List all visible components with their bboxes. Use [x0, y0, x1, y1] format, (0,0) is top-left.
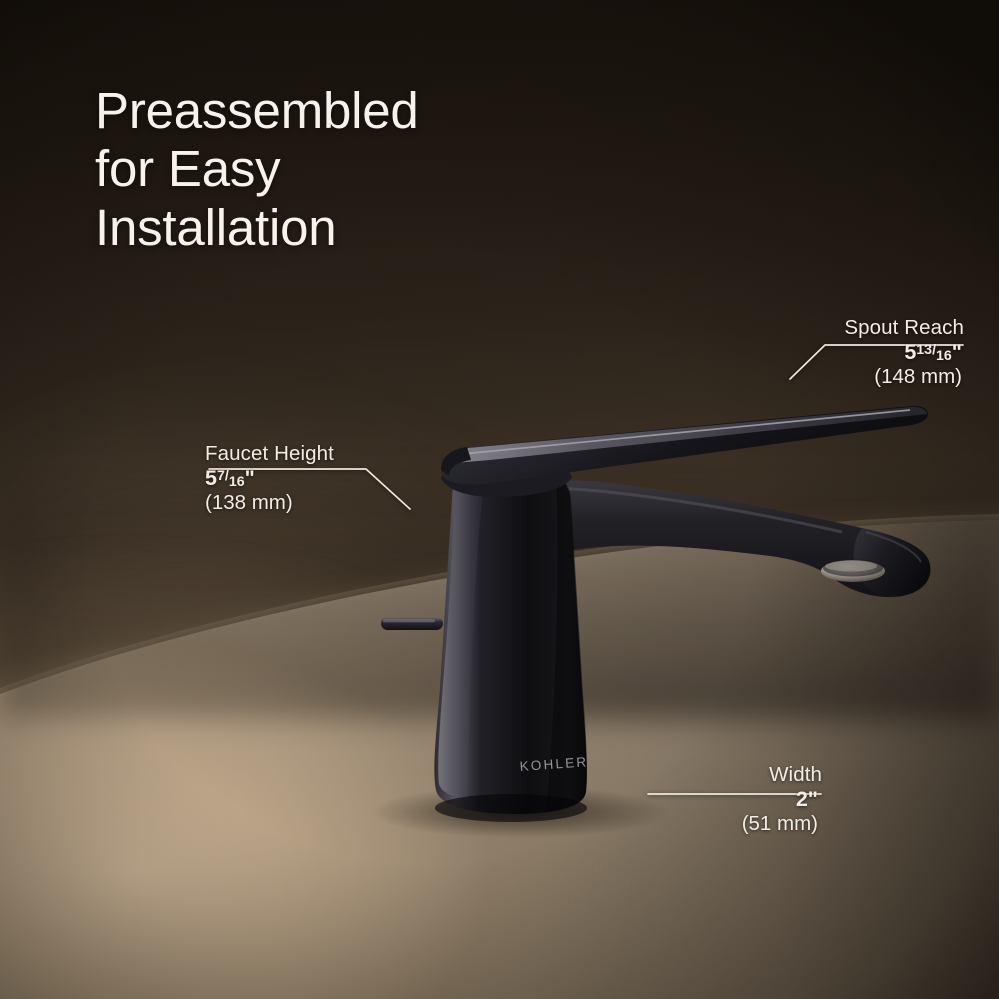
spout-reach-whole: 5: [904, 340, 916, 364]
spout-reach-label: Spout Reach: [812, 316, 964, 340]
width-imperial: 2": [646, 787, 822, 812]
spout-reach-metric: (148 mm): [812, 365, 964, 389]
faucet-height-label: Faucet Height: [205, 442, 415, 466]
faucet-height-imperial: 57/16": [205, 466, 415, 491]
headline-line-3: Installation: [95, 199, 419, 257]
faucet-height-metric: (138 mm): [205, 491, 415, 515]
page-title: Preassembled for Easy Installation: [95, 82, 419, 257]
product-image-canvas: KOHLER Preassembled for Easy Installatio…: [0, 0, 999, 999]
headline-line-1: Preassembled: [95, 82, 419, 140]
width-metric: (51 mm): [646, 812, 822, 836]
faucet-height-whole: 5: [205, 466, 217, 490]
spout-reach-imperial: 513/16": [812, 340, 964, 365]
callout-spout-reach: Spout Reach 513/16" (148 mm): [812, 316, 964, 389]
callout-faucet-height: Faucet Height 57/16" (138 mm): [205, 442, 415, 515]
width-unit: ": [808, 787, 818, 811]
width-label: Width: [646, 763, 822, 787]
width-whole: 2: [796, 787, 808, 811]
spout-reach-unit: ": [952, 340, 962, 364]
faucet-height-denominator: 16: [229, 474, 245, 490]
headline-line-2: for Easy: [95, 140, 419, 198]
faucet-height-unit: ": [245, 466, 255, 490]
spout-reach-numerator: 13: [916, 342, 932, 358]
spout-reach-denominator: 16: [936, 348, 952, 364]
callout-width: Width 2" (51 mm): [646, 763, 822, 836]
faucet-height-numerator: 7: [217, 468, 225, 484]
